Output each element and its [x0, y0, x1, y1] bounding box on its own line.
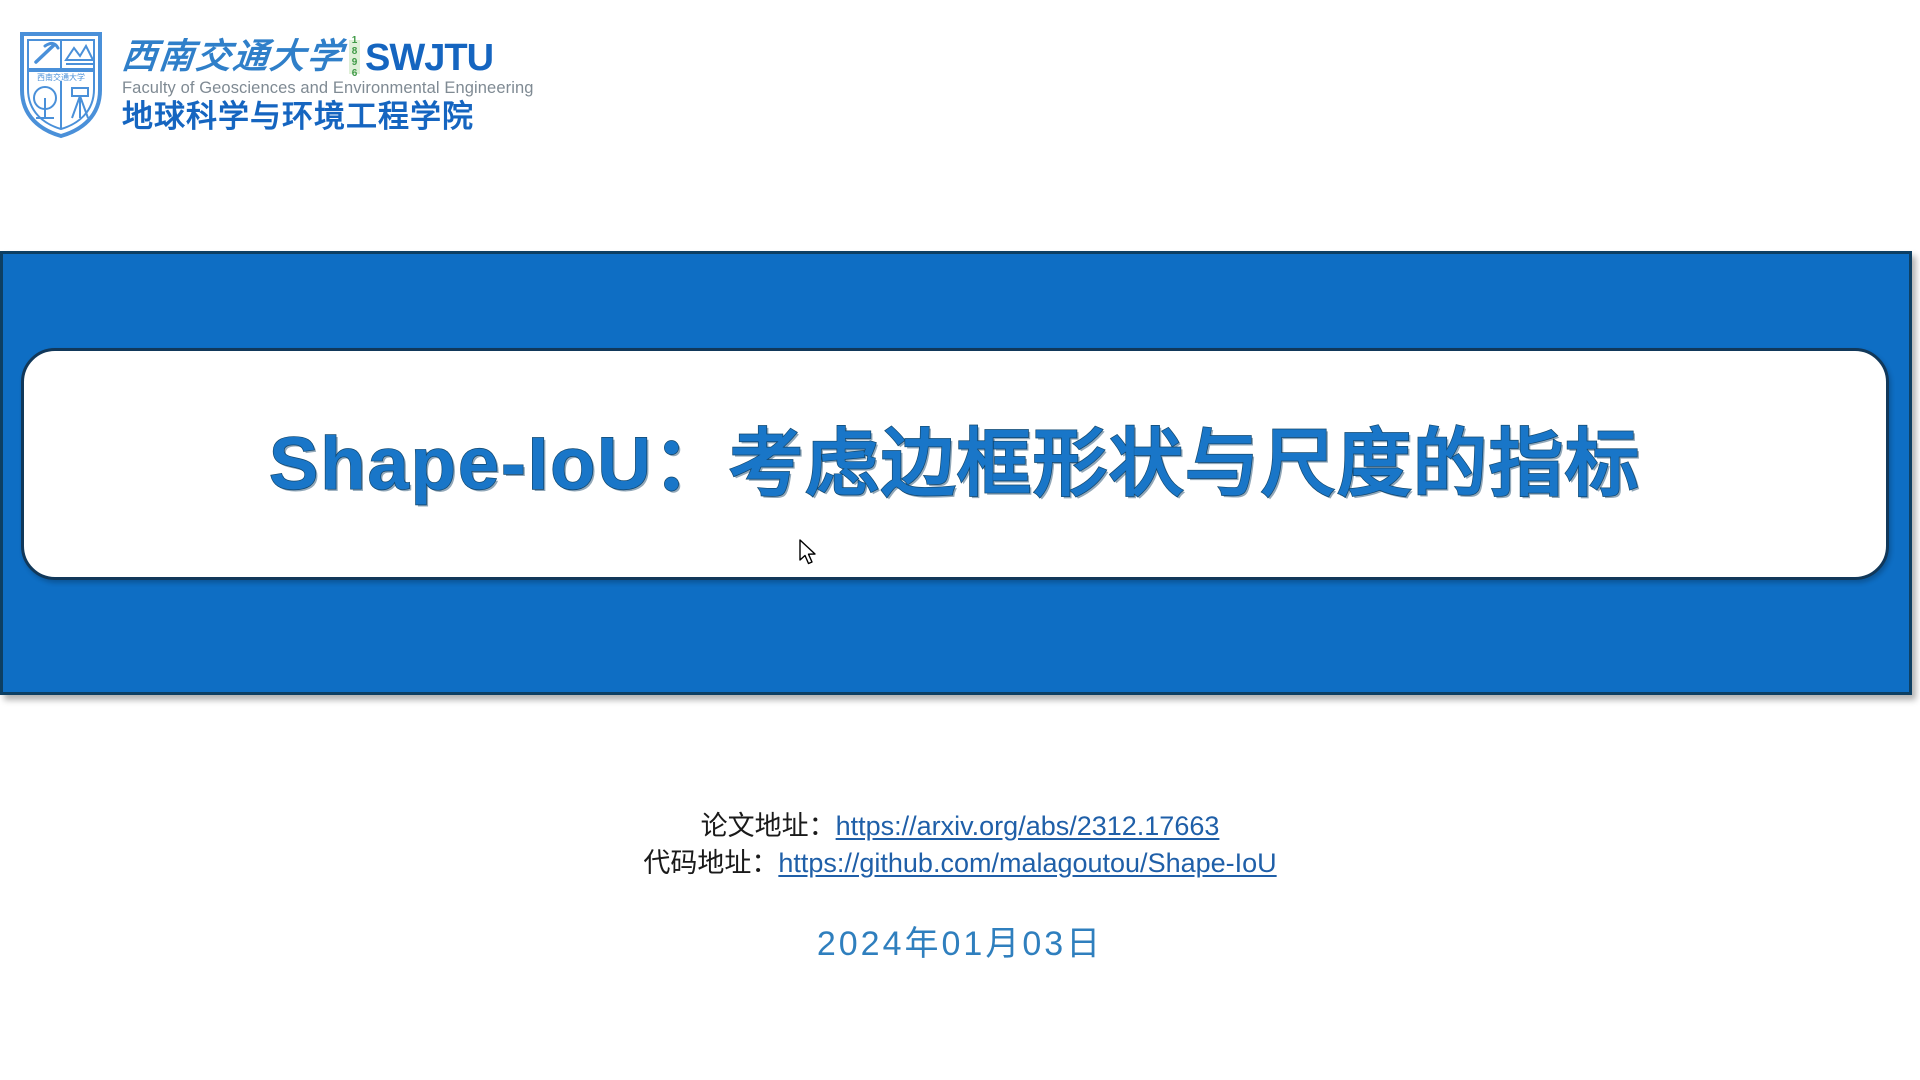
university-abbreviation: SWJTU: [365, 39, 493, 77]
presentation-date: 2024年01月03日: [0, 920, 1920, 968]
faculty-name-en: Faculty of Geosciences and Environmental…: [122, 78, 534, 98]
university-shield-icon: 西南交通大学: [14, 26, 108, 142]
code-link-label: 代码地址：: [643, 848, 778, 878]
presentation-slide: 西南交通大学 西南交通大学 1896 SWJTU Faculty of Geos…: [0, 0, 1920, 1080]
paper-link-label: 论文地址：: [701, 811, 836, 841]
title-card: Shape-IoU：考虑边框形状与尺度的指标: [21, 348, 1889, 580]
reference-links: 论文地址：https://arxiv.org/abs/2312.17663 代码…: [0, 808, 1920, 882]
logo-primary-row: 西南交通大学 1896 SWJTU: [122, 33, 534, 77]
faculty-name-cn: 地球科学与环境工程学院: [122, 99, 534, 135]
title-banner: Shape-IoU：考虑边框形状与尺度的指标: [0, 251, 1912, 695]
paper-link-url[interactable]: https://arxiv.org/abs/2312.17663: [836, 811, 1220, 841]
founded-year-badge: 1896: [349, 40, 360, 74]
code-link-url[interactable]: https://github.com/malagoutou/Shape-IoU: [778, 848, 1276, 878]
page-title: Shape-IoU：考虑边框形状与尺度的指标: [269, 421, 1641, 507]
paper-link-line: 论文地址：https://arxiv.org/abs/2312.17663: [0, 808, 1920, 845]
university-name-cn: 西南交通大学: [120, 37, 346, 77]
code-link-line: 代码地址：https://github.com/malagoutou/Shape…: [0, 845, 1920, 882]
institution-logo: 西南交通大学 西南交通大学 1896 SWJTU Faculty of Geos…: [14, 26, 534, 142]
logo-text-block: 西南交通大学 1896 SWJTU Faculty of Geosciences…: [122, 33, 534, 135]
svg-text:西南交通大学: 西南交通大学: [37, 72, 85, 82]
